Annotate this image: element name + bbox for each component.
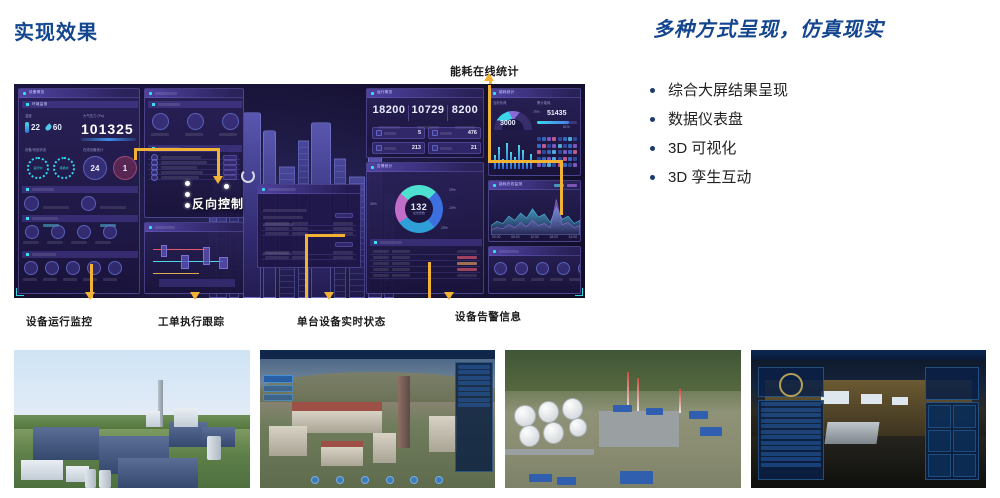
x-tick: 00:00 xyxy=(492,236,501,239)
stat-tile[interactable]: 476 xyxy=(428,127,481,139)
bullet-dot-icon xyxy=(650,88,655,93)
icon-row-b[interactable] xyxy=(25,225,117,239)
env-label-pressure: 大气压力 (Pa) xyxy=(83,115,104,118)
energy-bar-chart xyxy=(493,137,533,169)
twin-topbar[interactable] xyxy=(260,350,496,359)
energy-gauge-pct: 75% xyxy=(533,111,540,114)
connector-line-rev-v xyxy=(217,148,220,178)
scene-panel-list[interactable] xyxy=(758,400,824,480)
panel-energy-trend[interactable]: 能耗在线监测 xyxy=(488,180,581,242)
scene-panel-gauge[interactable] xyxy=(758,367,824,397)
status-ring-standby: 待机中 xyxy=(53,157,75,179)
kpi-value-2: 10729 xyxy=(411,105,445,116)
twin-side-panel[interactable] xyxy=(455,362,493,472)
summary-icon[interactable] xyxy=(536,262,549,275)
stat-value-4: 21 xyxy=(471,145,477,151)
panel-header: 能耗在线监测 xyxy=(489,181,580,190)
bullet-dot-icon xyxy=(650,146,655,151)
metric-icon[interactable] xyxy=(81,196,96,211)
energy-progress-track xyxy=(537,121,577,124)
callout-reverse-control: 反向控制 xyxy=(192,195,244,212)
workorder-icon[interactable] xyxy=(187,113,204,130)
env-temperature-value: 22 xyxy=(31,123,40,132)
connector-line-energy-v2 xyxy=(560,160,563,215)
callout-energy-arrow-icon xyxy=(484,73,494,81)
icon-row-b-labels xyxy=(23,241,111,244)
node-dot xyxy=(185,203,190,208)
caption-arrow-icon-2 xyxy=(190,292,200,300)
pressure-underline xyxy=(81,138,136,141)
panel-process-schematic[interactable] xyxy=(144,222,244,294)
status-ring-label: 运行中 xyxy=(33,167,42,170)
energy-gauge-caption: 当前负荷 xyxy=(493,102,507,105)
energy-total-caption: 累计能耗 xyxy=(537,102,551,105)
x-tick: 06:00 xyxy=(511,236,520,239)
alarm-table-header xyxy=(370,239,482,246)
workorder-list[interactable] xyxy=(148,155,240,180)
list-item[interactable] xyxy=(148,175,240,180)
caption-1: 设备运行监控 xyxy=(26,314,93,329)
energy-total-value: 51435 xyxy=(547,110,566,117)
caption-arrow-icon-1 xyxy=(85,292,95,300)
panel-title: 能耗在线监测 xyxy=(499,183,522,187)
panel-bullet-icon xyxy=(371,166,374,169)
device-icon[interactable] xyxy=(77,225,91,239)
refresh-icon[interactable] xyxy=(241,169,255,183)
panel-realtime-device[interactable] xyxy=(257,184,361,268)
panel-bullet-icon xyxy=(262,188,265,191)
list-item: 综合大屏结果呈现 xyxy=(650,76,980,105)
node-dot xyxy=(185,181,190,186)
summary-icons[interactable] xyxy=(494,262,581,275)
energy-gauge-value: 3000 xyxy=(500,120,516,127)
list-item: 3D 孪生互动 xyxy=(650,163,980,192)
feature-label: 3D 孪生互动 xyxy=(668,170,751,185)
list-item: 3D 可视化 xyxy=(650,134,980,163)
connector-line-4 xyxy=(428,262,431,298)
chart-legend xyxy=(554,184,580,187)
stat-value-1: 5 xyxy=(418,130,421,136)
caption-4: 设备告警信息 xyxy=(455,309,522,324)
kpi-value-1: 18200 xyxy=(372,105,406,116)
count-section-label: 在线设备统计 xyxy=(83,149,103,152)
scene-topbar[interactable] xyxy=(751,350,987,360)
stat-tile[interactable]: 5 xyxy=(372,127,425,139)
caption-3: 单台设备实时状态 xyxy=(297,314,386,329)
panel-bullet-icon xyxy=(493,184,496,187)
donut-label: 总告警数 xyxy=(411,212,428,215)
caption-arrow-icon-3 xyxy=(324,292,334,300)
panel-bullet-icon xyxy=(23,92,26,95)
schematic-diagram xyxy=(151,239,237,287)
subpanel-header xyxy=(148,101,242,108)
warehouse-platform xyxy=(824,422,879,444)
panel-bullet-icon xyxy=(493,92,496,95)
caption-arrow-icon-4 xyxy=(444,292,454,300)
count-fault-value: 1 xyxy=(123,164,127,173)
scene-panel-camera-grid[interactable] xyxy=(925,402,979,479)
x-tick: 18:00 xyxy=(549,236,558,239)
panel-bullet-icon xyxy=(493,250,496,253)
x-tick: 24:00 xyxy=(569,236,578,239)
connector-line-rev-h xyxy=(134,148,220,151)
panel-header: 能耗统计 xyxy=(489,89,580,98)
subpanel-header-env: 环境监测 xyxy=(22,101,138,108)
panel-header: 告警统计 xyxy=(367,163,483,172)
workorder-values xyxy=(151,133,237,136)
stat-value-3: 213 xyxy=(412,145,421,151)
connector-line-rev-v0 xyxy=(134,148,137,160)
donut-center: 132 总告警数 xyxy=(411,203,428,215)
icon-row-c[interactable] xyxy=(24,261,122,275)
subpanel-title: 环境监测 xyxy=(32,103,48,107)
panel-running-overview[interactable]: 运行概览 18200 10729 8200 xyxy=(366,88,484,158)
panel-alarm-stats[interactable]: 告警统计 132 总告警数 30% 25% 20% 25% xyxy=(366,162,484,294)
energy-progress-fill xyxy=(537,121,569,124)
summary-icon[interactable] xyxy=(578,262,581,275)
scene-panel-camera[interactable] xyxy=(925,367,979,400)
caption-row: 设备运行监控 工单执行跟踪 单台设备实时状态 设备告警信息 xyxy=(0,306,600,330)
energy-area-chart xyxy=(491,193,580,235)
connector-arrow-rev-icon xyxy=(213,176,223,184)
status-section-label: 设备/系统状态 xyxy=(25,149,46,152)
donut-legend-pct-2: 20% xyxy=(449,207,456,210)
panel-title: 告警统计 xyxy=(377,165,393,169)
kpi-value-3: 8200 xyxy=(450,105,480,116)
panel-energy-summary[interactable] xyxy=(488,246,581,294)
donut-legend-pct-3: 25% xyxy=(441,227,448,230)
table-row xyxy=(262,255,356,260)
stat-tile[interactable]: 213 xyxy=(372,142,425,154)
panel-bullet-icon xyxy=(149,226,152,229)
subpanel-header-b xyxy=(22,215,138,222)
thermometer-icon xyxy=(25,122,29,133)
status-ring-running: 运行中 xyxy=(27,157,49,179)
panel-header xyxy=(489,247,580,256)
env-humidity-value: 60 xyxy=(53,123,62,132)
gallery-item-4[interactable]: 厂房内部三维监控场景 xyxy=(751,350,987,488)
stat-tile[interactable]: 21 xyxy=(428,142,481,154)
panel-header xyxy=(145,223,243,232)
summary-labels xyxy=(493,278,581,281)
panel-header: 设备概览 xyxy=(19,89,139,98)
energy-progress-pct: 81% xyxy=(563,126,570,129)
metric-icon[interactable] xyxy=(24,196,39,211)
subpanel-header-a xyxy=(22,186,138,193)
chart-x-axis: 00:00 06:00 12:00 18:00 24:00 xyxy=(492,236,577,239)
page-title-right: 多种方式呈现，仿真现实 xyxy=(653,13,884,42)
corner-bracket xyxy=(16,288,24,296)
device-icon[interactable] xyxy=(108,261,122,275)
node-dot xyxy=(224,184,229,189)
panel-title: 能耗统计 xyxy=(499,91,515,95)
dashboard-canvas: 设备概览 环境监测 温度 大气压力 (Pa) 22 xyxy=(14,84,585,298)
device-icon[interactable] xyxy=(103,225,117,239)
count-online-value: 24 xyxy=(91,164,100,173)
gallery-item-2[interactable]: 水泥厂数字孪生交互界面 xyxy=(260,350,496,488)
count-online-badge: 24 xyxy=(83,156,107,180)
dashboard-screenshot: 设备概览 环境监测 温度 大气压力 (Pa) 22 xyxy=(14,84,585,298)
table-row xyxy=(370,273,480,279)
workorder-icon[interactable] xyxy=(222,113,239,130)
bullet-dot-icon xyxy=(650,117,655,122)
feature-label: 综合大屏结果呈现 xyxy=(668,83,788,98)
panel-header xyxy=(258,185,360,194)
device-icon[interactable] xyxy=(25,225,39,239)
device-icon[interactable] xyxy=(45,261,59,275)
panel-header xyxy=(145,89,243,98)
summary-icon[interactable] xyxy=(557,262,570,275)
panel-device-overview[interactable]: 设备概览 环境监测 温度 大气压力 (Pa) 22 xyxy=(18,88,140,294)
panel-title: 设备概览 xyxy=(29,91,45,95)
energy-heatmap xyxy=(537,137,577,169)
corner-bracket xyxy=(575,288,583,296)
status-ring-label: 待机中 xyxy=(59,167,68,170)
device-icon[interactable] xyxy=(51,225,65,239)
alarm-donut-chart: 132 总告警数 xyxy=(395,185,443,233)
gallery-item-1[interactable]: 厂区三维全景渲染 xyxy=(14,350,250,488)
twin-bottom-nav[interactable] xyxy=(311,474,443,485)
connector-line-energy-h xyxy=(488,160,563,163)
x-tick: 12:00 xyxy=(530,236,539,239)
panel-bullet-icon xyxy=(149,92,152,95)
feature-list: 综合大屏结果呈现 数据仪表盘 3D 可视化 3D 孪生互动 xyxy=(650,76,980,192)
connector-line-energy-v xyxy=(488,85,491,163)
slide-root: 实现效果 多种方式呈现，仿真现实 综合大屏结果呈现 数据仪表盘 3D 可视化 3… xyxy=(0,0,1000,498)
alarm-table xyxy=(370,249,480,279)
connector-line-3b xyxy=(305,234,345,237)
donut-legend-pct-4: 30% xyxy=(370,203,377,206)
list-item: 数据仪表盘 xyxy=(650,105,980,134)
gallery-strip: 厂区三维全景渲染 xyxy=(14,350,986,488)
twin-left-buttons[interactable] xyxy=(263,375,293,403)
connector-line-3 xyxy=(305,234,308,298)
donut-legend-pct-1: 25% xyxy=(449,189,456,192)
caption-2: 工单执行跟踪 xyxy=(158,314,225,329)
env-label-temp: 温度 xyxy=(25,115,32,118)
panel-header: 运行概览 xyxy=(367,89,483,98)
droplet-icon xyxy=(44,123,52,131)
feature-label: 数据仪表盘 xyxy=(668,112,743,127)
device-icon[interactable] xyxy=(24,261,38,275)
bullet-dot-icon xyxy=(650,175,655,180)
workorder-icons[interactable] xyxy=(152,113,239,130)
gallery-item-3[interactable]: 炼化厂区航拍三维模型 xyxy=(505,350,741,488)
subpanel-header-c xyxy=(22,251,138,258)
summary-icon[interactable] xyxy=(494,262,507,275)
icon-row-c-labels xyxy=(23,278,117,281)
panel-bullet-icon xyxy=(371,92,374,95)
summary-icon[interactable] xyxy=(515,262,528,275)
node-dot xyxy=(185,192,190,197)
device-table-2 xyxy=(262,250,356,260)
stat-value-2: 476 xyxy=(468,130,477,136)
feature-label: 3D 可视化 xyxy=(668,141,736,156)
workorder-icon[interactable] xyxy=(152,113,169,130)
env-pressure-value: 101325 xyxy=(81,121,134,137)
panel-title: 运行概览 xyxy=(377,91,393,95)
page-title-left: 实现效果 xyxy=(14,16,98,45)
device-icon[interactable] xyxy=(66,261,80,275)
